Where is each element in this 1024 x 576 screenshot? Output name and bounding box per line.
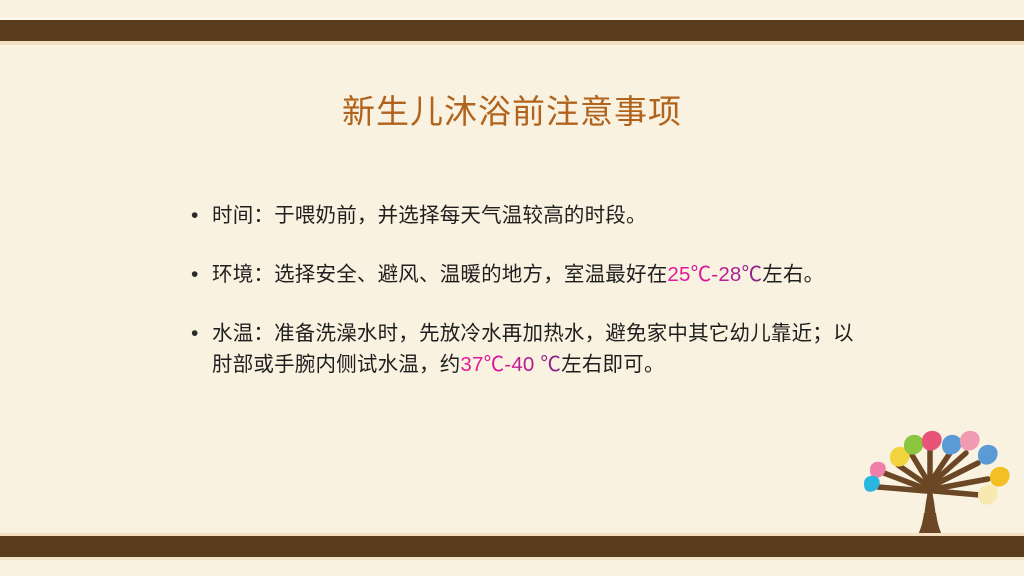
slide-canvas: 新生儿沐浴前注意事项 • 时间：于喂奶前，并选择每天气温较高的时段。 • 环境：… <box>0 0 1024 576</box>
stylized-tree-icon <box>838 425 1024 537</box>
top-tan-accent-line <box>0 41 1024 45</box>
bullet-segment-plain: 环境：选择安全、避风、温暖的地方，室温最好在 <box>212 263 667 286</box>
bullet-marker-icon: • <box>186 318 212 349</box>
blossom-gold <box>990 467 1010 487</box>
blossom-blue <box>942 435 962 455</box>
bullet-text-environment: 环境：选择安全、避风、温暖的地方，室温最好在25℃-28℃左右。 <box>212 259 866 290</box>
blossom-cream <box>978 485 998 505</box>
blossom-pink <box>922 431 942 451</box>
bullet-segment-plain: 时间：于喂奶前，并选择每天气温较高的时段。 <box>212 204 647 227</box>
top-brown-band <box>0 20 1024 41</box>
list-item-water-temperature: • 水温：准备洗澡水时，先放冷水再加热水，避免家中其它幼儿靠近；以肘部或手腕内侧… <box>186 318 866 380</box>
bottom-brown-band <box>0 536 1024 557</box>
blossom-blue-2 <box>978 445 998 465</box>
bullet-segment-plain-tail: 左右。 <box>762 263 824 286</box>
bullet-list: • 时间：于喂奶前，并选择每天气温较高的时段。 • 环境：选择安全、避风、温暖的… <box>186 200 866 380</box>
bullet-marker-icon: • <box>186 200 212 231</box>
bullet-text-water-temperature: 水温：准备洗澡水时，先放冷水再加热水，避免家中其它幼儿靠近；以肘部或手腕内侧试水… <box>212 318 866 380</box>
list-item-environment: • 环境：选择安全、避风、温暖的地方，室温最好在25℃-28℃左右。 <box>186 259 866 290</box>
bullet-text-time: 时间：于喂奶前，并选择每天气温较高的时段。 <box>212 200 866 231</box>
blossom-light-pink <box>960 431 980 451</box>
highlight-water-temperature: 37℃-40 ℃ <box>460 353 561 376</box>
bullet-segment-plain-tail: 左右即可。 <box>561 353 665 376</box>
page-title: 新生儿沐浴前注意事项 <box>0 90 1024 134</box>
blossom-green <box>904 435 924 455</box>
highlight-room-temperature: 25℃-28℃ <box>667 263 762 286</box>
bullet-marker-icon: • <box>186 259 212 290</box>
bottom-hairline-divider <box>0 557 1024 560</box>
list-item-time: • 时间：于喂奶前，并选择每天气温较高的时段。 <box>186 200 866 231</box>
